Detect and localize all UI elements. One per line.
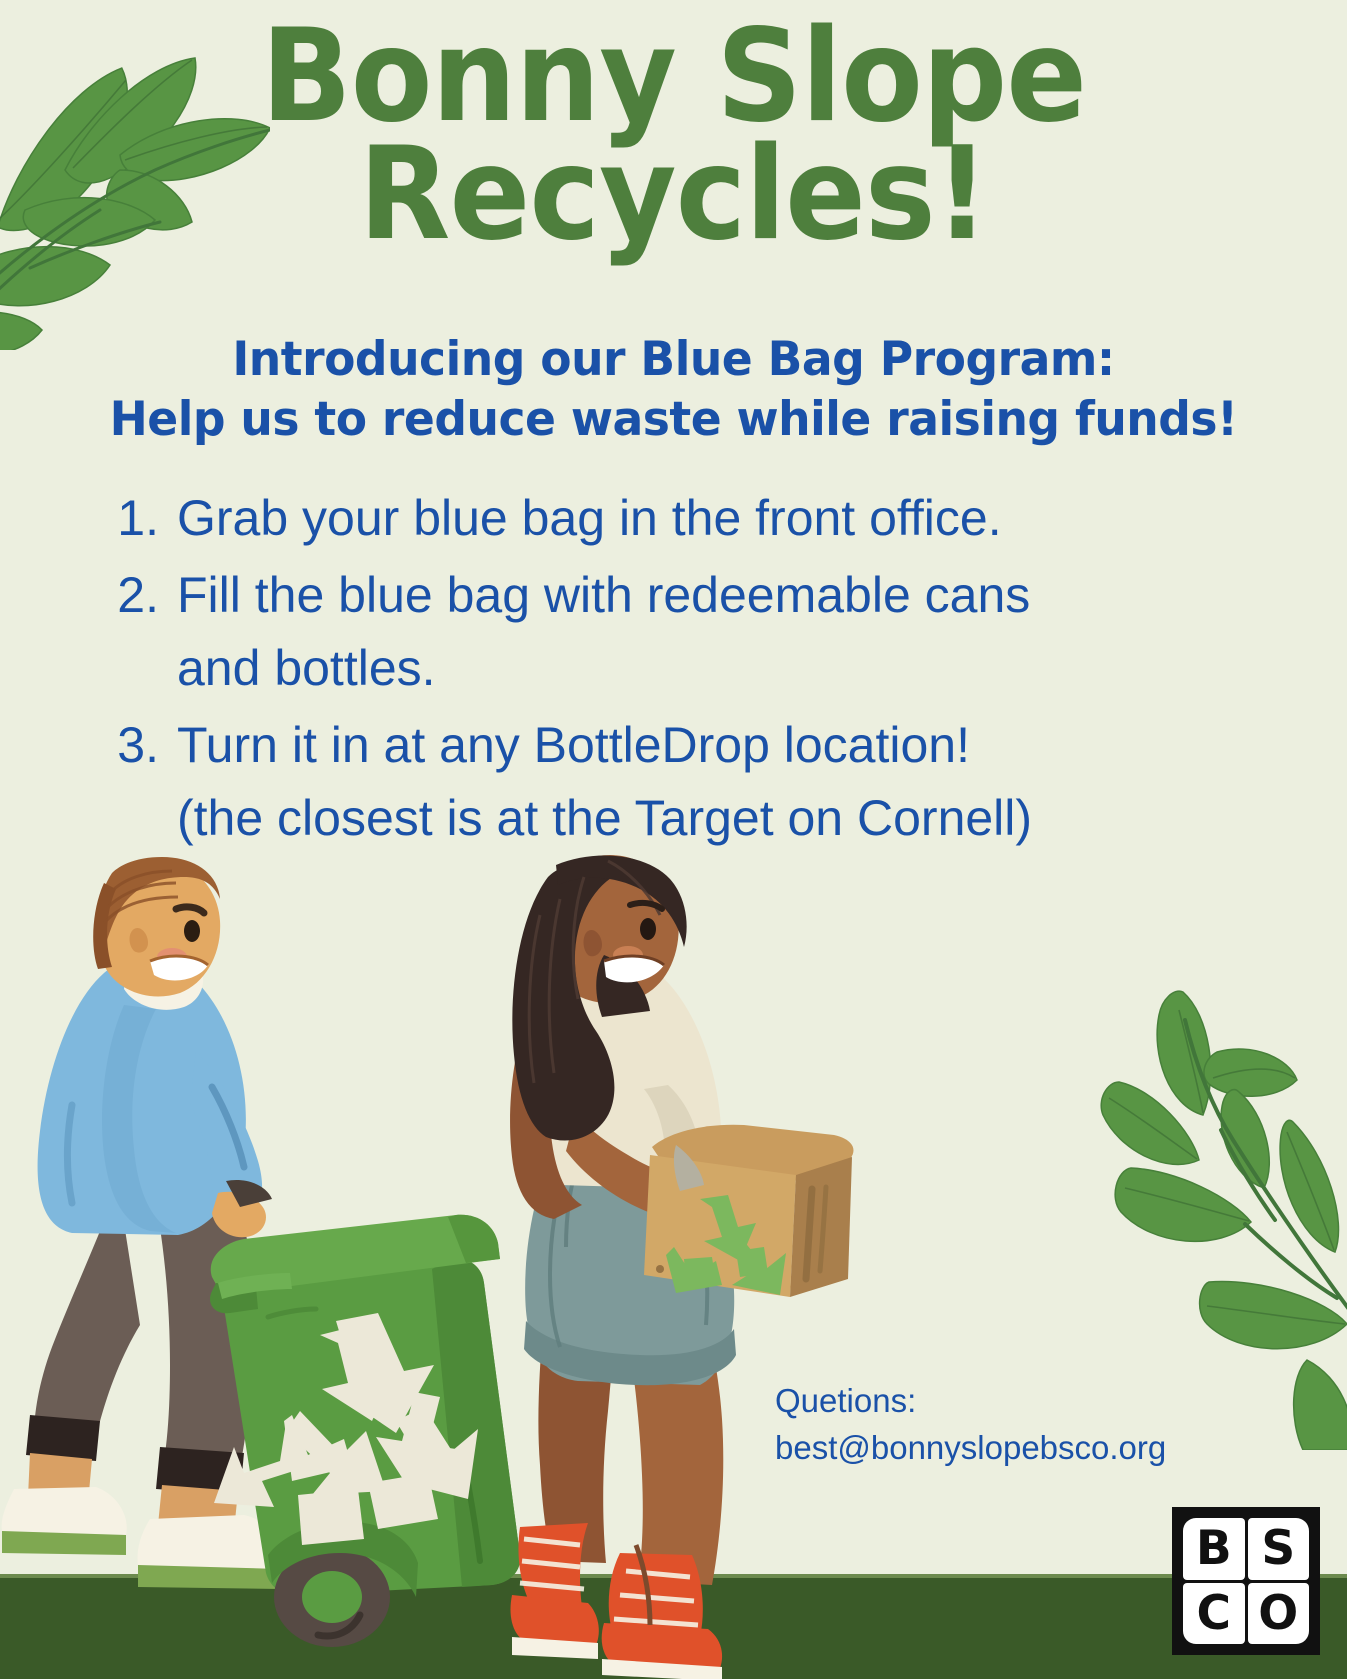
step-text: Grab your blue bag in the front office. bbox=[177, 490, 1002, 546]
headline-line-2: Recycles! bbox=[47, 136, 1300, 254]
step-text: Turn it in at any BottleDrop location! bbox=[177, 717, 970, 773]
logo-tile-b: B bbox=[1183, 1518, 1245, 1580]
step-number: 3. bbox=[95, 709, 177, 782]
step-subtext: (the closest is at the Target on Cornell… bbox=[177, 782, 1255, 855]
logo-tile-c: C bbox=[1183, 1583, 1245, 1645]
cardboard-box bbox=[644, 1125, 853, 1297]
step-text-wrapper: Grab your blue bag in the front office. bbox=[177, 482, 1255, 555]
recycling-illustration bbox=[0, 855, 1347, 1679]
list-item: 2. Fill the blue bag with redeemable can… bbox=[95, 559, 1255, 705]
step-number: 2. bbox=[95, 559, 177, 632]
list-item: 3. Turn it in at any BottleDrop location… bbox=[95, 709, 1255, 855]
headline-line-1: Bonny Slope bbox=[47, 18, 1300, 136]
poster-subtitle: Introducing our Blue Bag Program: Help u… bbox=[20, 330, 1327, 450]
contact-email[interactable]: best@bonnyslopebsco.org bbox=[775, 1425, 1166, 1472]
logo-tile-o: O bbox=[1248, 1583, 1310, 1645]
logo-tile-s: S bbox=[1248, 1518, 1310, 1580]
subtitle-line-2: Help us to reduce waste while raising fu… bbox=[20, 390, 1327, 450]
subtitle-line-1: Introducing our Blue Bag Program: bbox=[20, 330, 1327, 390]
questions-label: Quetions: bbox=[775, 1378, 1166, 1425]
step-text: Fill the blue bag with redeemable cans bbox=[177, 567, 1030, 623]
bsco-logo: B S C O bbox=[1172, 1507, 1320, 1655]
step-number: 1. bbox=[95, 482, 177, 555]
poster-headline: Bonny Slope Recycles! bbox=[47, 18, 1300, 254]
step-text-wrapper: Turn it in at any BottleDrop location! (… bbox=[177, 709, 1255, 855]
step-subtext: and bottles. bbox=[177, 632, 1255, 705]
contact-info: Quetions: best@bonnyslopebsco.org bbox=[775, 1378, 1166, 1472]
recycling-poster: Bonny Slope Recycles! Introducing our Bl… bbox=[0, 0, 1347, 1679]
instruction-steps-list: 1. Grab your blue bag in the front offic… bbox=[95, 482, 1255, 859]
step-text-wrapper: Fill the blue bag with redeemable cans a… bbox=[177, 559, 1255, 705]
list-item: 1. Grab your blue bag in the front offic… bbox=[95, 482, 1255, 555]
